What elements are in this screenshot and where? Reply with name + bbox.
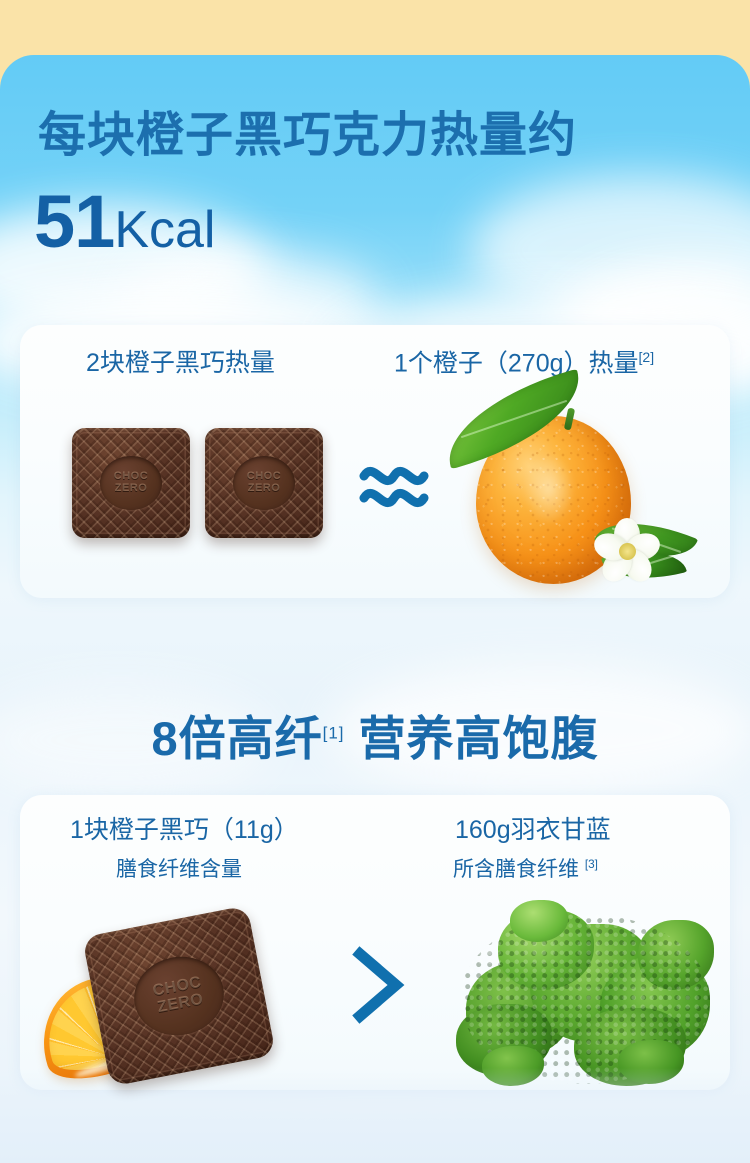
chocolate-emblem-line2: ZERO <box>248 483 281 495</box>
orange-highlight <box>523 453 575 525</box>
chocolate-emblem: CHOC ZERO <box>100 456 162 510</box>
blossom-center <box>619 543 636 560</box>
fiber-section-heading: 8倍高纤[1] 营养高饱腹 <box>0 700 750 769</box>
chocolate-square: CHOC ZERO <box>72 428 190 538</box>
calorie-left-label: 2块橙子黑巧热量 <box>86 350 275 378</box>
chocolate-square: CHOC ZERO <box>82 905 276 1086</box>
hero-calorie-line: 51Kcal <box>34 185 215 259</box>
chocolate-emblem: CHOC ZERO <box>233 456 295 510</box>
greater-than-icon <box>348 946 408 1024</box>
fiber-right-sublabel-footnote: [3] <box>585 858 598 871</box>
fiber-right-sublabel-text: 所含膳食纤维 <box>453 858 579 881</box>
product-infographic-page: 每块橙子黑巧克力热量约 51Kcal 2块橙子黑巧热量 1个橙子（270g）热量… <box>0 0 750 1163</box>
hero-headline: 每块橙子黑巧克力热量约 <box>38 108 728 164</box>
kale-bunch <box>452 900 718 1090</box>
fiber-right-sublabel: 所含膳食纤维 [3] <box>453 853 598 883</box>
fiber-left-label: 1块橙子黑巧（11g） <box>70 817 299 845</box>
fiber-left-sublabel: 膳食纤维含量 <box>116 853 242 883</box>
calorie-right-label: 1个橙子（270g）热量[2] <box>394 350 654 378</box>
sky-background-panel: 每块橙子黑巧克力热量约 51Kcal 2块橙子黑巧热量 1个橙子（270g）热量… <box>0 55 750 1163</box>
hero-calorie-unit: Kcal <box>114 201 215 259</box>
orange-blossom <box>590 512 664 586</box>
fiber-right-label: 160g羽衣甘蓝 <box>455 817 611 845</box>
fiber-heading-part2: 营养高饱腹 <box>359 712 599 765</box>
fiber-heading-part1: 8倍高纤 <box>152 712 323 765</box>
cloud-decoration <box>470 175 750 325</box>
chocolate-emblem-line2: ZERO <box>115 483 148 495</box>
fiber-heading-footnote: [1] <box>323 723 345 742</box>
calorie-right-label-text: 1个橙子（270g）热量 <box>394 349 639 377</box>
chocolate-square: CHOC ZERO <box>205 428 323 538</box>
hero-calorie-value: 51 <box>34 180 114 263</box>
whole-orange-illustration <box>448 390 698 590</box>
calorie-right-label-footnote: [2] <box>639 349 655 365</box>
approximately-equal-icon <box>358 452 430 518</box>
